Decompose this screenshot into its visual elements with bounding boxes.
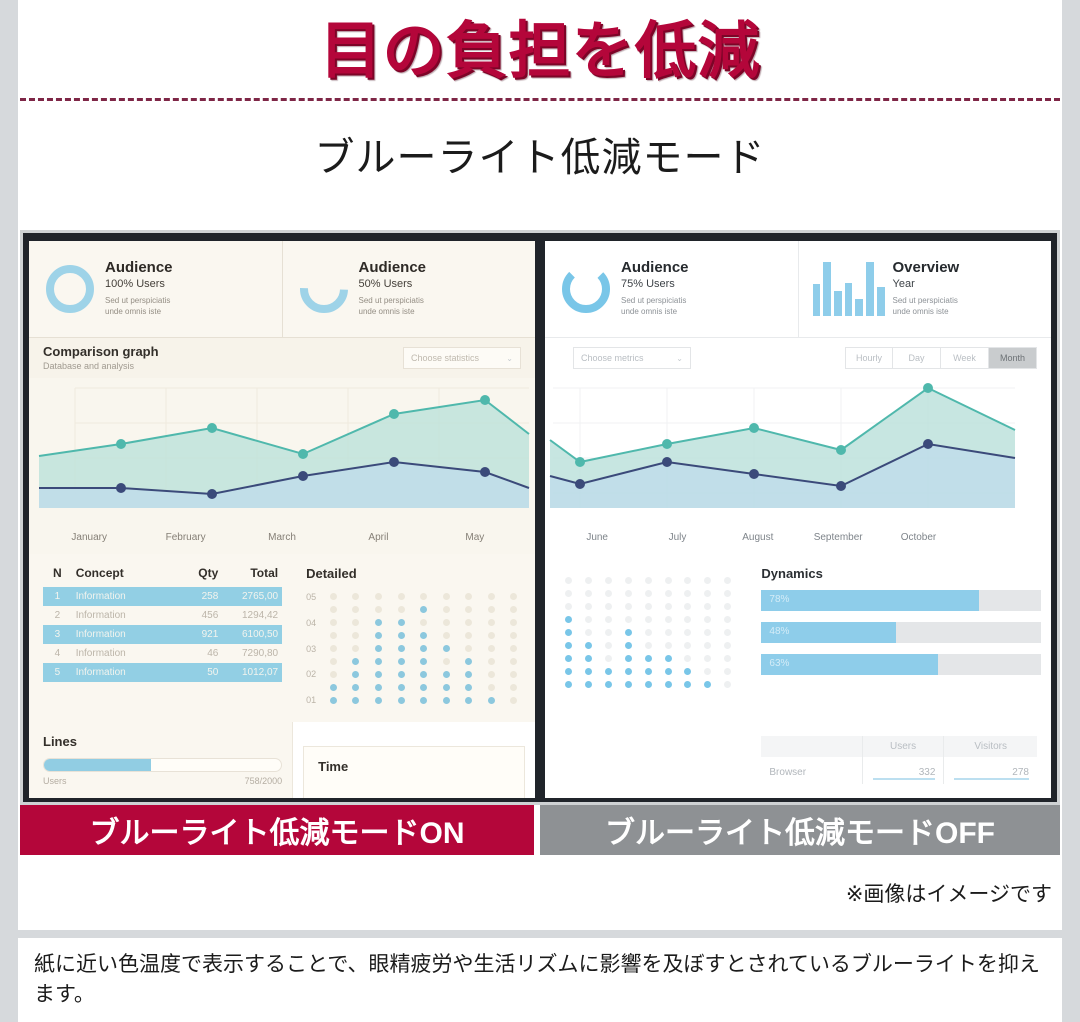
dot-cell — [625, 642, 632, 649]
dot-cell — [605, 603, 612, 610]
dot-cell — [375, 606, 382, 613]
dot-cell — [665, 577, 672, 584]
dot-cell — [605, 577, 612, 584]
dot-cell — [625, 655, 632, 662]
tab-hourly[interactable]: Hourly — [845, 347, 893, 369]
dot-cell — [375, 632, 382, 639]
x-label-march: March — [234, 532, 330, 543]
dot-cell — [375, 645, 382, 652]
choose-statistics-select[interactable]: Choose statistics ⌄ — [403, 347, 521, 369]
browser-col-users: Users — [862, 736, 944, 757]
table-row[interactable]: 3 Information 921 6100,50 — [43, 625, 282, 644]
kpi-description: Sed ut perspiciatis unde omnis iste — [893, 296, 960, 318]
dot-cell — [465, 697, 472, 704]
caption-mode-on: ブルーライト低減モードON — [20, 805, 534, 855]
comparison-title: Comparison graph — [43, 345, 159, 360]
dot-cell — [443, 684, 450, 691]
x-label-september: September — [798, 532, 878, 543]
col-header-total: Total — [222, 566, 282, 587]
dot-cell — [330, 671, 337, 678]
dot-cell — [684, 668, 691, 675]
dot-cell — [645, 590, 652, 597]
chevron-down-icon: ⌄ — [506, 354, 513, 363]
dot-cell — [330, 632, 337, 639]
footer-text: 紙に近い色温度で表示することで、眼精疲労や生活リズムに影響を及ぼすとされているブ… — [34, 950, 1046, 1011]
dot-cell — [565, 668, 572, 675]
dot-cell — [443, 593, 450, 600]
browser-col-visitors: Visitors — [944, 736, 1037, 757]
dot-y-01: 01 — [306, 694, 316, 707]
kpi-title: Audience — [621, 260, 689, 277]
kpi-subtitle: 50% Users — [359, 278, 427, 290]
dot-cell — [724, 577, 731, 584]
x-label-june: June — [557, 532, 637, 543]
dot-cell — [585, 616, 592, 623]
dot-cell — [665, 642, 672, 649]
dot-cell — [704, 668, 711, 675]
dot-cell — [724, 681, 731, 688]
dot-cell — [704, 603, 711, 610]
dot-cell — [704, 616, 711, 623]
monitor-bezel: Audience 100% Users Sed ut perspiciatis … — [23, 233, 1057, 802]
kpi-description: Sed ut perspiciatis unde omnis iste — [621, 296, 689, 318]
chevron-down-icon: ⌄ — [676, 354, 683, 363]
dot-cell — [510, 658, 517, 665]
dot-y-02: 02 — [306, 668, 316, 681]
dot-cell — [330, 593, 337, 600]
kpi-subtitle: 75% Users — [621, 278, 689, 290]
caption-off-text: ブルーライト低減モードOFF — [605, 808, 995, 852]
dot-cell — [398, 632, 405, 639]
dot-cell — [605, 668, 612, 675]
cell-qty: 921 — [175, 625, 223, 644]
dot-cell — [704, 681, 711, 688]
dot-cell — [352, 619, 359, 626]
dot-cell — [665, 655, 672, 662]
cell-total: 7290,80 — [222, 644, 282, 663]
kpi-card-audience-75[interactable]: Audience 75% Users Sed ut perspiciatis u… — [545, 241, 798, 337]
cell-n: 5 — [43, 663, 72, 682]
dot-cell — [420, 645, 427, 652]
dot-cell — [605, 655, 612, 662]
dot-cell — [665, 668, 672, 675]
comparison-header-left: Comparison graph Database and analysis C… — [29, 338, 535, 378]
dot-cell — [420, 671, 427, 678]
kpi-card-audience-50[interactable]: Audience 50% Users Sed ut perspiciatis u… — [282, 241, 536, 337]
detailed-block-right — [545, 554, 747, 722]
dot-cell — [585, 629, 592, 636]
dot-cell — [488, 671, 495, 678]
dot-cell — [352, 697, 359, 704]
dot-cell — [488, 697, 495, 704]
dot-cell — [443, 632, 450, 639]
dot-cell — [375, 684, 382, 691]
dot-cell — [420, 697, 427, 704]
dot-cell — [724, 616, 731, 623]
dot-cell — [605, 629, 612, 636]
dot-cell — [420, 593, 427, 600]
footer-description: 紙に近い色温度で表示することで、眼精疲労や生活リズムに影響を及ぼすとされているブ… — [18, 938, 1062, 1022]
dot-cell — [510, 645, 517, 652]
dot-cell — [510, 632, 517, 639]
cell-total: 6100,50 — [222, 625, 282, 644]
caption-on-text: ブルーライト低減モードON — [90, 808, 465, 852]
cell-n: 1 — [43, 587, 72, 606]
dot-cell — [488, 645, 495, 652]
dot-cell — [565, 616, 572, 623]
dot-cell — [398, 645, 405, 652]
subheadline-text: ブルーライト低減モード — [315, 125, 766, 183]
dot-cell — [465, 684, 472, 691]
dot-cell — [488, 593, 495, 600]
dynamics-block: Dynamics 78% 48% 63% — [747, 554, 1051, 722]
choose-statistics-label: Choose statistics — [411, 353, 479, 363]
dot-cell — [420, 606, 427, 613]
kpi-description: Sed ut perspiciatis unde omnis iste — [359, 296, 427, 318]
x-label-august: August — [718, 532, 798, 543]
table-row[interactable]: 5 Information 50 1012,07 — [43, 663, 282, 682]
dot-cell — [704, 577, 711, 584]
dot-cell — [465, 606, 472, 613]
dot-cell — [488, 632, 495, 639]
dot-cell — [724, 668, 731, 675]
dot-cell — [704, 655, 711, 662]
bottom-section-right: Users Visitors Browser 332 278 — [545, 722, 1051, 798]
kpi-desc-line2: unde omnis iste — [105, 307, 161, 316]
subheadline-banner: ブルーライト低減モード — [18, 118, 1062, 190]
dot-cell — [352, 606, 359, 613]
kpi-row-right: Audience 75% Users Sed ut perspiciatis u… — [545, 241, 1051, 338]
table-row[interactable]: 1 Information 258 2765,00 — [43, 587, 282, 606]
panel-blue-light-on: Audience 100% Users Sed ut perspiciatis … — [29, 241, 535, 798]
dot-cell — [645, 616, 652, 623]
dot-cell — [585, 603, 592, 610]
col-header-qty: Qty — [175, 566, 223, 587]
comparison-chart-right — [545, 378, 1051, 530]
donut-chart-icon — [297, 262, 351, 316]
dot-cell — [684, 616, 691, 623]
dot-cell — [375, 658, 382, 665]
dot-cell — [665, 590, 672, 597]
dot-cell — [565, 590, 572, 597]
kpi-row-left: Audience 100% Users Sed ut perspiciatis … — [29, 241, 535, 338]
dot-cell — [625, 603, 632, 610]
kpi-desc-line2: unde omnis iste — [359, 307, 415, 316]
dot-cell — [665, 616, 672, 623]
kpi-card-overview-year[interactable]: Overview Year Sed ut perspiciatis unde o… — [798, 241, 1052, 337]
mid-section-left: N Concept Qty Total 1 Information 258 27… — [29, 554, 535, 722]
x-label-may: May — [427, 532, 523, 543]
dot-cell — [352, 593, 359, 600]
dot-cell — [443, 658, 450, 665]
dot-cell — [420, 684, 427, 691]
dot-cell — [420, 658, 427, 665]
time-title: Time — [318, 759, 524, 774]
x-label-april: April — [330, 532, 426, 543]
dot-cell — [684, 681, 691, 688]
dynamics-bar-label: 78% — [769, 594, 789, 605]
dot-cell — [510, 697, 517, 704]
dot-cell — [625, 681, 632, 688]
dot-cell — [510, 606, 517, 613]
dot-cell — [352, 671, 359, 678]
dot-cell — [625, 577, 632, 584]
kpi-title: Audience — [359, 260, 427, 277]
kpi-desc-line2: unde omnis iste — [621, 307, 677, 316]
dot-cell — [665, 629, 672, 636]
dot-cell — [375, 593, 382, 600]
dot-cell — [605, 681, 612, 688]
browser-row-label: Browser — [761, 757, 862, 784]
data-table-block: N Concept Qty Total 1 Information 258 27… — [29, 554, 292, 722]
dot-cell — [585, 590, 592, 597]
cell-concept: Information — [72, 606, 175, 625]
detailed-block: Detailed 05 04 03 02 01 — [292, 554, 535, 722]
kpi-desc-line1: Sed ut perspiciatis — [893, 296, 958, 305]
kpi-desc-line2: unde omnis iste — [893, 307, 949, 316]
kpi-subtitle: 100% Users — [105, 278, 173, 290]
dot-cell — [398, 619, 405, 626]
dynamics-title: Dynamics — [761, 566, 1041, 581]
dot-matrix-grid — [559, 574, 737, 691]
area-line-chart-svg — [545, 378, 1051, 530]
dot-cell — [330, 619, 337, 626]
dot-cell — [465, 593, 472, 600]
dot-cell — [398, 606, 405, 613]
dot-cell — [665, 681, 672, 688]
dot-cell — [443, 606, 450, 613]
bottom-section-left: Lines Users 758/2000 Time — [29, 722, 535, 798]
cell-qty: 50 — [175, 663, 223, 682]
dot-cell — [684, 629, 691, 636]
dynamics-bar[interactable]: 63% — [761, 654, 1041, 675]
dot-cell — [510, 684, 517, 691]
dot-cell — [585, 655, 592, 662]
detailed-title: Detailed — [306, 566, 525, 581]
cell-n: 2 — [43, 606, 72, 625]
dot-cell — [465, 632, 472, 639]
dot-cell — [585, 668, 592, 675]
cell-n: 3 — [43, 625, 72, 644]
dot-matrix-grid — [322, 590, 525, 707]
choose-metrics-label: Choose metrics — [581, 353, 644, 363]
kpi-desc-line1: Sed ut perspiciatis — [105, 296, 170, 305]
dot-cell — [585, 642, 592, 649]
cell-qty: 258 — [175, 587, 223, 606]
cell-concept: Information — [72, 625, 175, 644]
caption-mode-off: ブルーライト低減モードOFF — [540, 805, 1060, 855]
dot-cell — [645, 577, 652, 584]
dot-cell — [585, 681, 592, 688]
dot-cell — [330, 606, 337, 613]
browser-col-blank — [761, 736, 862, 757]
data-table: N Concept Qty Total 1 Information 258 27… — [43, 566, 282, 682]
kpi-card-audience-100[interactable]: Audience 100% Users Sed ut perspiciatis … — [29, 241, 282, 337]
browser-header-row: Users Visitors — [761, 736, 1037, 757]
dot-cell — [605, 642, 612, 649]
dot-cell — [645, 655, 652, 662]
dot-cell — [724, 590, 731, 597]
lines-progress-bar[interactable] — [43, 758, 282, 772]
dot-cell — [724, 603, 731, 610]
tab-day[interactable]: Day — [893, 347, 941, 369]
cell-qty: 46 — [175, 644, 223, 663]
kpi-title: Audience — [105, 260, 173, 277]
dot-cell — [565, 603, 572, 610]
comparison-subtitle: Database and analysis — [43, 361, 159, 371]
dot-cell — [684, 577, 691, 584]
dot-cell — [398, 658, 405, 665]
donut-chart-icon — [559, 262, 613, 316]
dot-cell — [375, 671, 382, 678]
dot-cell — [625, 590, 632, 597]
dot-cell — [443, 671, 450, 678]
dot-cell — [352, 645, 359, 652]
table-row[interactable]: 4 Information 46 7290,80 — [43, 644, 282, 663]
dot-cell — [488, 684, 495, 691]
dynamics-bar[interactable]: 78% — [761, 590, 1041, 611]
dot-cell — [645, 642, 652, 649]
dot-matrix: 05 04 03 02 01 — [306, 590, 525, 707]
comparison-chart-left — [29, 378, 535, 530]
image-disclaimer-note: ※画像はイメージです — [846, 878, 1052, 908]
dot-cell — [565, 629, 572, 636]
tab-month[interactable]: Month — [989, 347, 1037, 369]
dot-cell — [330, 697, 337, 704]
dot-cell — [420, 632, 427, 639]
kpi-description: Sed ut perspiciatis unde omnis iste — [105, 296, 173, 318]
headline-text: 目の負担を低減 — [319, 0, 760, 90]
dot-cell — [375, 619, 382, 626]
area-line-chart-svg — [29, 378, 535, 530]
dot-cell — [585, 577, 592, 584]
dot-cell — [352, 632, 359, 639]
x-label-october: October — [878, 532, 958, 543]
dot-cell — [625, 629, 632, 636]
dot-cell — [684, 603, 691, 610]
donut-chart-icon — [43, 262, 97, 316]
col-header-n: N — [43, 566, 72, 587]
lines-block: Lines Users 758/2000 — [29, 722, 292, 798]
page-root: 目の負担を低減 ブルーライト低減モード Audience 100% Users … — [0, 0, 1080, 1022]
x-label-july: July — [637, 532, 717, 543]
dot-cell — [398, 697, 405, 704]
dot-cell — [684, 590, 691, 597]
dot-cell — [665, 603, 672, 610]
dot-cell — [704, 629, 711, 636]
dot-cell — [510, 671, 517, 678]
dynamics-bar-label: 48% — [769, 626, 789, 637]
dot-y-04: 04 — [306, 617, 316, 630]
dot-cell — [565, 681, 572, 688]
dot-cell — [465, 658, 472, 665]
dot-cell — [625, 668, 632, 675]
lines-meta-left: Users — [43, 776, 67, 786]
dot-cell — [465, 619, 472, 626]
dot-cell — [724, 629, 731, 636]
choose-metrics-select[interactable]: Choose metrics ⌄ — [573, 347, 691, 369]
dot-cell — [398, 671, 405, 678]
dot-cell — [330, 658, 337, 665]
kpi-desc-line1: Sed ut perspiciatis — [359, 296, 424, 305]
chart-x-labels-right: June July August September October — [545, 530, 1051, 554]
dynamics-bar[interactable]: 48% — [761, 622, 1041, 643]
caption-bar-row: ブルーライト低減モードON ブルーライト低減モードOFF — [20, 805, 1060, 855]
browser-visitors-value: 278 — [944, 757, 1037, 784]
dot-cell — [625, 616, 632, 623]
x-label-february: February — [137, 532, 233, 543]
dot-cell — [704, 590, 711, 597]
time-card: Time — [303, 746, 525, 798]
dot-cell — [443, 697, 450, 704]
dot-cell — [684, 642, 691, 649]
dot-cell — [645, 603, 652, 610]
chart-x-labels-left: January February March April May — [29, 530, 535, 554]
dot-cell — [488, 606, 495, 613]
tab-week[interactable]: Week — [941, 347, 989, 369]
kpi-desc-line1: Sed ut perspiciatis — [621, 296, 686, 305]
dot-cell — [352, 684, 359, 691]
dot-cell — [330, 645, 337, 652]
dot-cell — [724, 642, 731, 649]
dot-cell — [375, 697, 382, 704]
col-header-concept: Concept — [72, 566, 175, 587]
kpi-title: Overview — [893, 260, 960, 277]
mid-section-right: Dynamics 78% 48% 63% — [545, 554, 1051, 722]
dot-cell — [605, 616, 612, 623]
bar-chart-icon — [813, 262, 885, 316]
dot-cell — [510, 619, 517, 626]
dot-matrix — [559, 574, 737, 691]
dot-cell — [645, 681, 652, 688]
cell-total: 1294,42 — [222, 606, 282, 625]
dot-cell — [488, 658, 495, 665]
headline-banner: 目の負担を低減 — [18, 2, 1062, 88]
dot-cell — [605, 590, 612, 597]
time-block: Time — [292, 722, 535, 798]
dot-cell — [645, 668, 652, 675]
dot-cell — [443, 645, 450, 652]
dot-cell — [398, 593, 405, 600]
cell-concept: Information — [72, 663, 175, 682]
cell-total: 1012,07 — [222, 663, 282, 682]
dot-cell — [465, 645, 472, 652]
dot-cell — [465, 671, 472, 678]
range-tab-group: Hourly Day Week Month — [845, 347, 1037, 369]
browser-table: Users Visitors Browser 332 278 — [761, 736, 1037, 784]
x-label-january: January — [41, 532, 137, 543]
cell-total: 2765,00 — [222, 587, 282, 606]
dot-y-03: 03 — [306, 643, 316, 656]
cell-concept: Information — [72, 644, 175, 663]
dot-y-05: 05 — [306, 591, 316, 604]
dashed-divider — [20, 98, 1060, 101]
table-row[interactable]: 2 Information 456 1294,42 — [43, 606, 282, 625]
browser-block: Users Visitors Browser 332 278 — [747, 722, 1051, 798]
dot-cell — [352, 658, 359, 665]
dot-cell — [420, 619, 427, 626]
lines-title: Lines — [43, 734, 282, 749]
comparison-header-right: Choose metrics ⌄ Hourly Day Week Month — [545, 338, 1051, 378]
dot-cell — [510, 593, 517, 600]
browser-row[interactable]: Browser 332 278 — [761, 757, 1037, 784]
cell-qty: 456 — [175, 606, 223, 625]
dot-cell — [565, 655, 572, 662]
lines-meta-right: 758/2000 — [245, 776, 283, 786]
dot-cell — [684, 655, 691, 662]
table-header-row: N Concept Qty Total — [43, 566, 282, 587]
cell-concept: Information — [72, 587, 175, 606]
